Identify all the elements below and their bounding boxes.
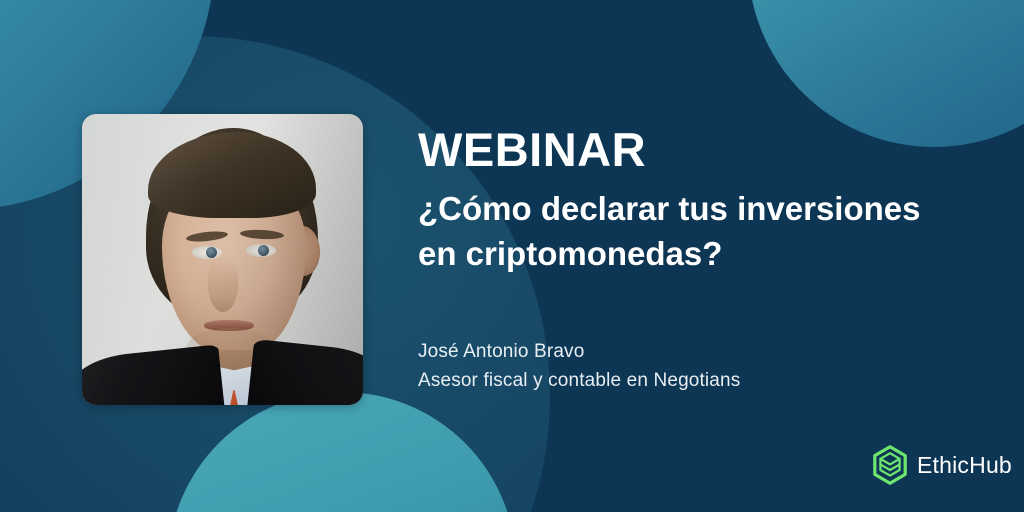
subtitle-line-2: en criptomonedas? — [418, 232, 998, 277]
speaker-role: Asesor fiscal y contable en Negotians — [418, 366, 918, 395]
page-title: WEBINAR — [418, 126, 998, 173]
ethichub-logo: EthicHub — [872, 445, 1012, 485]
circle-top-right-shape — [748, 0, 1024, 147]
portrait-shading — [82, 114, 363, 405]
headline-block: WEBINAR ¿Cómo declarar tus inversiones e… — [418, 126, 998, 277]
ethichub-wordmark: EthicHub — [917, 454, 1012, 477]
webinar-banner: WEBINAR ¿Cómo declarar tus inversiones e… — [0, 0, 1024, 512]
portrait-image — [82, 114, 363, 405]
subtitle-line-1: ¿Cómo declarar tus inversiones — [418, 187, 998, 232]
speaker-name: José Antonio Bravo — [418, 337, 918, 366]
speaker-credit: José Antonio Bravo Asesor fiscal y conta… — [418, 337, 918, 396]
hexagon-layers-icon — [872, 445, 908, 485]
speaker-portrait — [82, 114, 363, 405]
